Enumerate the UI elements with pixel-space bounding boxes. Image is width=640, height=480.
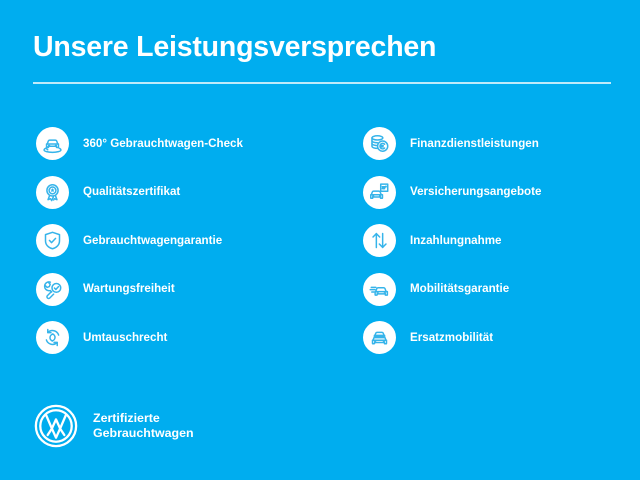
car-document-check-icon: [363, 176, 396, 209]
benefits-column-left: 360° Gebrauchtwagen-Check Qualitätszerti…: [36, 127, 336, 354]
title-divider: [33, 82, 611, 84]
car-360-check-icon: [36, 127, 69, 160]
benefit-label: Finanzdienstleistungen: [410, 137, 539, 151]
quality-seal-icon: [36, 176, 69, 209]
page-title: Unsere Leistungsversprechen: [33, 30, 611, 64]
brand-text-line1: Zertifizierte: [93, 411, 160, 425]
benefit-item-gebrauchtwagengarantie[interactable]: Gebrauchtwagengarantie: [36, 224, 336, 257]
benefit-item-gebrauchtwagen-check[interactable]: 360° Gebrauchtwagen-Check: [36, 127, 336, 160]
two-cars-icon: [363, 321, 396, 354]
brand-text-line2: Gebrauchtwagen: [93, 426, 194, 440]
coins-euro-icon: [363, 127, 396, 160]
benefit-item-finanzdienstleistungen[interactable]: Finanzdienstleistungen: [363, 127, 623, 160]
brand-lockup: Zertifizierte Gebrauchtwagen: [33, 403, 194, 449]
benefit-label: Umtauschrecht: [83, 331, 167, 345]
benefit-label: Gebrauchtwagengarantie: [83, 234, 222, 248]
volkswagen-logo: [33, 403, 79, 449]
brand-text: Zertifizierte Gebrauchtwagen: [93, 411, 194, 442]
shield-check-icon: [36, 224, 69, 257]
benefits-slide: Unsere Leistungsversprechen 360° Gebrauc…: [0, 0, 640, 480]
benefit-item-inzahlungnahme[interactable]: Inzahlungnahme: [363, 224, 623, 257]
benefits-column-right: Finanzdienstleistungen Versicherungsange…: [363, 127, 623, 354]
benefit-label: Qualitätszertifikat: [83, 185, 180, 199]
wrench-check-icon: [36, 273, 69, 306]
benefit-label: Versicherungsangebote: [410, 185, 541, 199]
benefit-label: Ersatzmobilität: [410, 331, 493, 345]
benefit-item-wartungsfreiheit[interactable]: Wartungsfreiheit: [36, 273, 336, 306]
benefit-item-ersatzmobilitaet[interactable]: Ersatzmobilität: [363, 321, 623, 354]
benefit-label: Wartungsfreiheit: [83, 282, 175, 296]
benefit-item-umtauschrecht[interactable]: Umtauschrecht: [36, 321, 336, 354]
benefit-item-qualitaetszertifikat[interactable]: Qualitätszertifikat: [36, 176, 336, 209]
slide-header: Unsere Leistungsversprechen: [33, 30, 611, 84]
benefits-columns: 360° Gebrauchtwagen-Check Qualitätszerti…: [0, 127, 640, 354]
arrows-up-down-icon: [363, 224, 396, 257]
benefit-item-versicherungsangebote[interactable]: Versicherungsangebote: [363, 176, 623, 209]
benefit-item-mobilitaetsgarantie[interactable]: Mobilitätsgarantie: [363, 273, 623, 306]
exchange-arrows-icon: [36, 321, 69, 354]
benefit-label: 360° Gebrauchtwagen-Check: [83, 137, 243, 151]
benefit-label: Mobilitätsgarantie: [410, 282, 509, 296]
car-motion-icon: [363, 273, 396, 306]
benefit-label: Inzahlungnahme: [410, 234, 501, 248]
